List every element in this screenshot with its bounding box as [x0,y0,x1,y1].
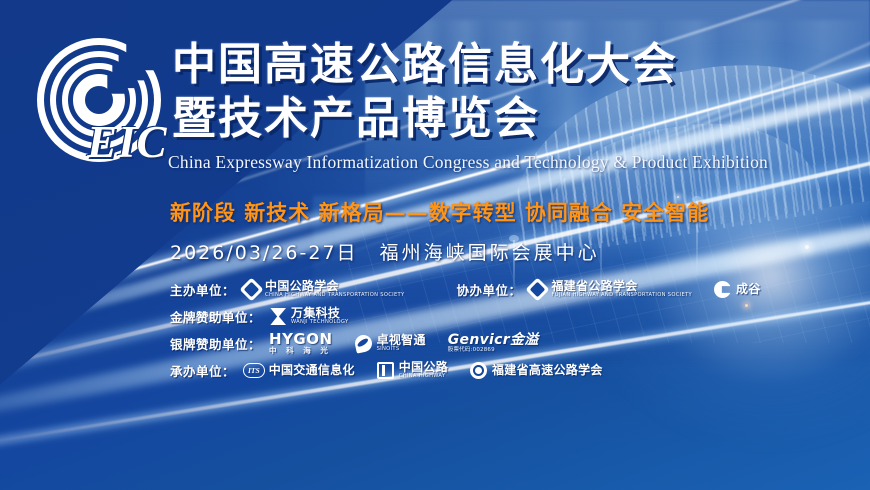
sponsor-name-sub: 股票代码:002869 [448,348,539,354]
sponsor-name: 万集科技 WANJI TECHNOLOGY [291,307,348,325]
sponsor-logo: 福建省公路学会 FUJIAN HIGHWAY AND TRANSPORTATIO… [529,280,692,298]
square-mark-icon [377,362,394,379]
sponsor-logo: HYGON 中 科 海 光 [269,332,333,356]
sponsor-row-organizer: 主办单位： 中国公路学会 CHINA HIGHWAY AND TRANSPORT… [170,276,790,303]
title-english: China Expressway Informatization Congres… [168,152,768,173]
title-line-2: 暨技术产品博览会 [172,92,812,146]
diamond-mark-icon [526,277,550,301]
sponsor-logo: ITS 中国交通信息化 [243,363,355,378]
sponsor-name-text: Genvicr金溢 [448,332,539,348]
sponsor-logo: 福建省高速公路学会 [470,362,603,379]
event-venue: 福州海峡国际会展中心 [380,242,600,264]
date-venue: 2026/03/26-27日 福州海峡国际会展中心 [170,238,600,265]
sponsor-name: 中国公路学会 CHINA HIGHWAY AND TRANSPORTATION … [265,280,404,298]
sponsor-name-sub: WANJI TECHNOLOGY [291,320,348,325]
organizer-logos: 中国公路学会 CHINA HIGHWAY AND TRANSPORTATION … [243,280,426,298]
sponsor-logo: 成谷 [714,281,761,298]
sponsor-section: 主办单位： 中国公路学会 CHINA HIGHWAY AND TRANSPORT… [170,276,790,384]
slogan: 新阶段 新技术 新格局——数字转型 协同融合 安全智能 [170,197,709,227]
conference-banner: EIC 中国高速公路信息化大会 暨技术产品博览会 China Expresswa… [0,0,870,490]
page-title: 中国高速公路信息化大会 暨技术产品博览会 [172,38,812,145]
sponsor-logo: 万集科技 WANJI TECHNOLOGY [269,307,348,325]
sponsor-name: 成谷 [736,283,761,296]
sponsor-label-coorganizer: 协办单位： [456,280,521,299]
sponsor-logo: Genvicr金溢 股票代码:002869 [448,333,539,353]
title-line-1: 中国高速公路信息化大会 [172,39,678,90]
swoosh-mark-icon [353,333,373,353]
logo-acronym: EIC [87,120,168,165]
sponsor-name: HYGON 中 科 海 光 [269,332,333,356]
sponsor-name: 福建省高速公路学会 [492,364,603,377]
sponsor-name: 卓视智通 SINOITS [377,334,426,352]
sponsor-label-host: 承办单位： [170,361,235,380]
sponsor-name: 福建省公路学会 FUJIAN HIGHWAY AND TRANSPORTATIO… [551,280,692,298]
its-badge-icon: ITS [243,363,265,378]
sponsor-row-gold: 金牌赞助单位： 万集科技 WANJI TECHNOLOGY [170,303,790,330]
event-date: 2026/03/26-27日 [170,242,358,264]
gold-sponsor-logos: 万集科技 WANJI TECHNOLOGY [269,307,370,325]
sponsor-name: Genvicr金溢 股票代码:002869 [448,333,539,353]
host-logos: ITS 中国交通信息化 中国公路 CHINA HIGHWAY [243,361,625,379]
sponsor-logo: 中国公路 CHINA HIGHWAY [377,361,448,379]
sponsor-row-host: 承办单位： ITS 中国交通信息化 中国公路 CHINA HIGHWAY [170,357,790,384]
sponsor-label-gold: 金牌赞助单位： [170,307,261,326]
sponsor-name-sub: FUJIAN HIGHWAY AND TRANSPORTATION SOCIET… [551,293,692,298]
c-crescent-mark-icon [714,281,731,298]
eic-logo: EIC [33,36,165,164]
sponsor-name-text: HYGON [269,330,333,348]
sponsor-name-text: 福建省高速公路学会 [492,363,603,377]
arrow-mark-icon [269,308,286,325]
sponsor-row-silver: 银牌赞助单位： HYGON 中 科 海 光 卓视智通 SINOITS [170,330,790,357]
sponsor-name-sub: SINOITS [377,347,426,352]
diamond-mark-icon [239,277,263,301]
coorganizer-logos: 福建省公路学会 FUJIAN HIGHWAY AND TRANSPORTATIO… [529,280,782,298]
silver-sponsor-logos: HYGON 中 科 海 光 卓视智通 SINOITS Genvicr金 [269,332,561,356]
sponsor-label-silver: 银牌赞助单位： [170,334,261,353]
sponsor-name-text: 中国交通信息化 [269,363,355,377]
sponsor-label-organizer: 主办单位： [170,280,235,299]
sponsor-logo: 中国公路学会 CHINA HIGHWAY AND TRANSPORTATION … [243,280,404,298]
sponsor-name: 中国交通信息化 [269,364,355,377]
sponsor-name: 中国公路 CHINA HIGHWAY [399,361,448,379]
sponsor-name-sub: CHINA HIGHWAY [399,374,448,379]
circle-mark-icon [470,362,487,379]
sponsor-name-sub: CHINA HIGHWAY AND TRANSPORTATION SOCIETY [265,293,404,298]
sponsor-name-text: 成谷 [736,282,761,296]
sponsor-name-sub: 中 科 海 光 [269,347,333,355]
sponsor-logo: 卓视智通 SINOITS [355,334,426,352]
